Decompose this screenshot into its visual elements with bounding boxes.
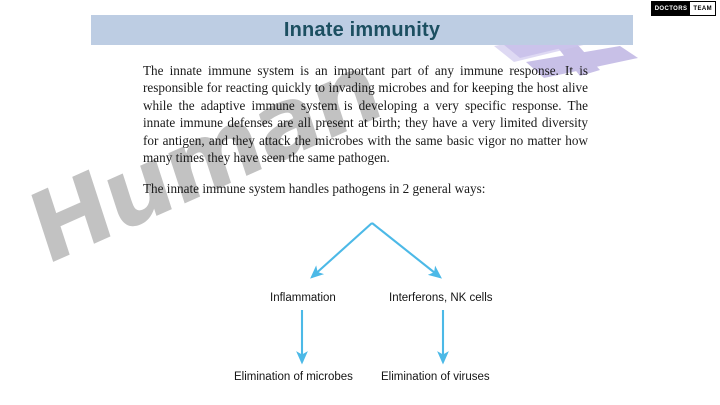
node-label-interferons-nk-cells: Interferons, NK cells bbox=[389, 292, 493, 304]
flow-diagram bbox=[0, 0, 720, 405]
logo-secondary-label: TEAM bbox=[690, 2, 715, 15]
arrow-to-inflammation bbox=[312, 223, 372, 277]
arrow-to-interferons bbox=[372, 223, 440, 277]
node-label-elimination-of-viruses: Elimination of viruses bbox=[381, 371, 490, 383]
slide-canvas: Human Innate immunity DOCTORS TEAM The i… bbox=[0, 0, 720, 405]
body-copy: The innate immune system is an important… bbox=[143, 62, 588, 198]
paragraph-intro: The innate immune system is an important… bbox=[143, 62, 588, 166]
watermark-layer: Human bbox=[0, 0, 720, 405]
slide-title-bar: Innate immunity bbox=[91, 15, 633, 45]
logo-primary-label: DOCTORS bbox=[652, 2, 691, 15]
node-label-elimination-of-microbes: Elimination of microbes bbox=[234, 371, 353, 383]
paragraph-two-ways: The innate immune system handles pathoge… bbox=[143, 180, 588, 197]
node-label-inflammation: Inflammation bbox=[270, 292, 336, 304]
doctors-team-logo: DOCTORS TEAM bbox=[651, 1, 716, 16]
page-title: Innate immunity bbox=[284, 19, 440, 42]
